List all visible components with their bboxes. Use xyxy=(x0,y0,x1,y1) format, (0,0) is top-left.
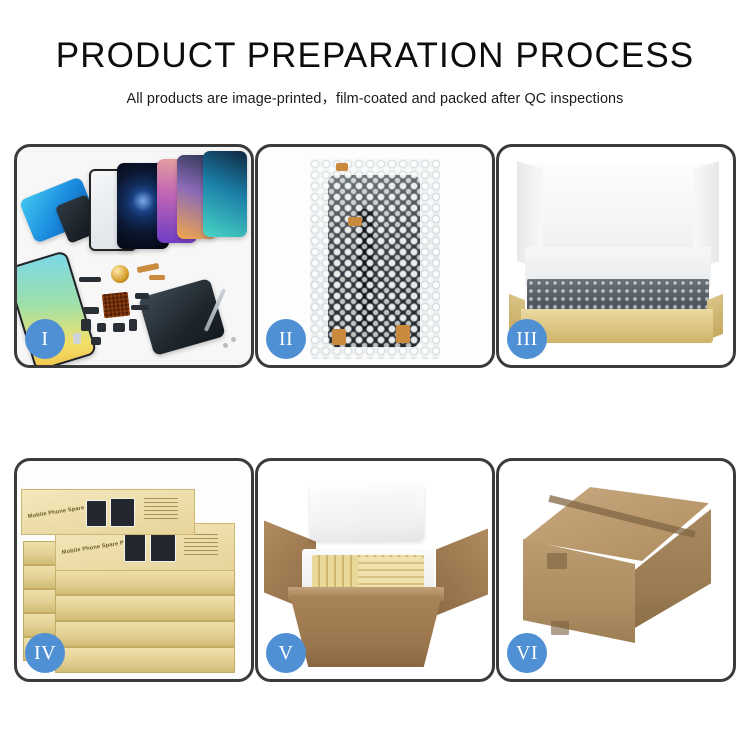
part-screw-1 xyxy=(223,343,228,348)
part-strip-8 xyxy=(131,305,149,310)
foam-cooler-lid xyxy=(310,483,424,541)
process-step-grid: I II III xyxy=(14,144,736,682)
tape-tab-left xyxy=(332,329,346,345)
step-badge-5: V xyxy=(266,633,306,673)
process-step-panel-5[interactable]: V xyxy=(255,458,495,682)
speaker-component-icon xyxy=(111,265,129,283)
stacked-box-r4 xyxy=(55,621,235,647)
box-thumbnail-left-1 xyxy=(86,500,107,527)
part-strip-7 xyxy=(135,293,149,299)
box-thumbnail-right-2 xyxy=(150,532,176,562)
part-strip-3 xyxy=(81,319,91,331)
part-strip-9 xyxy=(73,333,81,344)
part-strip-2 xyxy=(83,307,99,314)
carton-tab-upper xyxy=(547,553,567,569)
phone-teal xyxy=(203,151,247,237)
bubble-texture xyxy=(310,159,440,359)
process-step-panel-2[interactable]: II xyxy=(255,144,495,368)
stacked-box-r5 xyxy=(55,647,235,673)
box-front-kraft xyxy=(521,309,713,343)
process-step-panel-4[interactable]: Mobile Phone Spare Parts Mobile Phone Sp… xyxy=(14,458,254,682)
box-spec-lines-left xyxy=(144,498,178,520)
process-step-panel-6[interactable]: VI xyxy=(496,458,736,682)
carton-body xyxy=(290,595,442,667)
tape-tab-right xyxy=(396,325,410,343)
step-badge-1: I xyxy=(25,319,65,359)
carton-flap-right xyxy=(436,528,488,615)
bubble-wrap-bag xyxy=(310,159,440,359)
tape-tab-mid xyxy=(348,217,362,226)
process-step-panel-3[interactable]: III xyxy=(496,144,736,368)
part-strip-4 xyxy=(97,323,106,332)
step-badge-4: IV xyxy=(25,633,65,673)
part-strip-6 xyxy=(129,319,137,331)
stacked-box-r2 xyxy=(55,569,235,595)
stacked-box-r3 xyxy=(55,595,235,621)
top-box-left: Mobile Phone Spare Parts xyxy=(21,489,195,535)
box-thumbnail-right-1 xyxy=(124,534,146,562)
flex-cable-2 xyxy=(149,275,165,280)
carton-tab-lower xyxy=(551,621,569,635)
page-header: PRODUCT PREPARATION PROCESS All products… xyxy=(0,0,750,108)
part-strip-1 xyxy=(79,277,101,282)
box-spec-lines-right xyxy=(184,534,218,556)
flex-cable-1 xyxy=(137,263,160,273)
step-badge-2: II xyxy=(266,319,306,359)
part-strip-10 xyxy=(91,337,101,345)
chip-board-component xyxy=(102,292,130,319)
page-title: PRODUCT PREPARATION PROCESS xyxy=(0,38,750,75)
step-badge-3: III xyxy=(507,319,547,359)
part-screw-2 xyxy=(231,337,236,342)
box-thumbnail-left-2 xyxy=(110,498,135,527)
part-strip-5 xyxy=(113,323,125,332)
process-step-panel-1[interactable]: I xyxy=(14,144,254,368)
box-contents-bubble-units xyxy=(527,279,709,313)
tape-tab-top xyxy=(336,163,348,171)
page-subtitle: All products are image-printed，film-coat… xyxy=(0,87,750,108)
step-badge-6: VI xyxy=(507,633,547,673)
